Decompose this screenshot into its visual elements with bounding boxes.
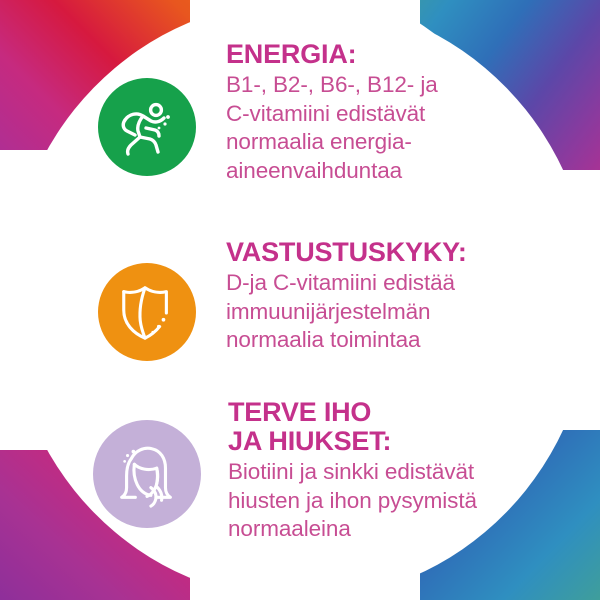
benefit-body: D-ja C-vitamiini edistää immuunijärjeste… — [226, 269, 467, 355]
benefit-item-terve-iho-ja-hiukset: TERVE IHO JA HIUKSET: Biotiini ja sinkki… — [93, 398, 477, 544]
benefit-heading: VASTUSTUSKYKY: — [226, 238, 467, 267]
shield-icon — [98, 263, 196, 361]
face-hair-icon — [93, 420, 201, 528]
benefit-heading: TERVE IHO JA HIUKSET: — [228, 398, 477, 456]
benefit-text-vastustuskyky: VASTUSTUSKYKY: D-ja C-vitamiini edistää … — [226, 238, 467, 355]
benefit-text-energia: ENERGIA: B1-, B2-, B6-, B12- ja C-vitami… — [226, 40, 438, 185]
vitamin-benefits-poster: ENERGIA: B1-, B2-, B6-, B12- ja C-vitami… — [0, 0, 600, 600]
benefit-body: Biotiini ja sinkki edistävät hiusten ja … — [228, 458, 477, 544]
benefit-item-energia: ENERGIA: B1-, B2-, B6-, B12- ja C-vitami… — [98, 40, 438, 185]
benefit-text-terve-iho: TERVE IHO JA HIUKSET: Biotiini ja sinkki… — [228, 398, 477, 544]
benefit-item-vastustuskyky: VASTUSTUSKYKY: D-ja C-vitamiini edistää … — [98, 238, 467, 361]
face-hair-glyph — [112, 439, 182, 509]
benefit-heading: ENERGIA: — [226, 40, 438, 69]
running-person-icon — [98, 78, 196, 176]
shield-glyph — [116, 281, 178, 343]
running-person-glyph — [115, 95, 179, 159]
benefits-list: ENERGIA: B1-, B2-, B6-, B12- ja C-vitami… — [0, 0, 600, 600]
benefit-body: B1-, B2-, B6-, B12- ja C-vitamiini edist… — [226, 71, 438, 185]
